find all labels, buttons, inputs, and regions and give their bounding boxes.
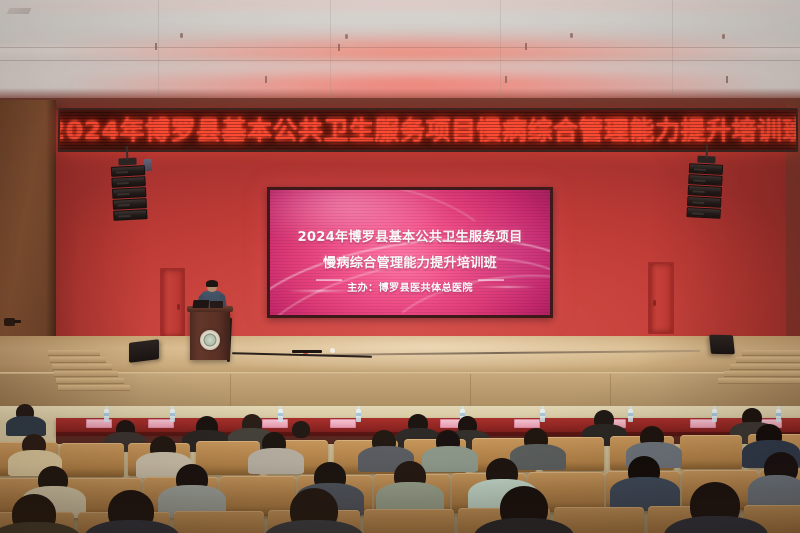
camera-icon [4,318,15,326]
speaker-module [688,174,722,186]
led-banner-text: 2024年博罗县基本公共卫生服务项目慢病综合管理能力提升培训班 [58,118,799,143]
ceiling-panel-joint [330,0,331,100]
screen-title-line-2: 慢病综合管理能力提升培训班 [323,252,497,271]
stage-door-left[interactable] [160,268,185,338]
wooden-lectern [190,310,230,360]
attendee-body [6,416,46,436]
attendee-head [292,421,310,438]
line-array-speaker-right [686,155,723,220]
institution-emblem-icon [200,330,220,350]
water-bottle [356,409,361,422]
ceiling-hook-icon [265,76,267,83]
water-bottle [170,409,175,422]
auditorium-seat[interactable] [60,443,124,477]
ceiling-hook-icon [155,43,157,50]
stage-led-screen: 2024年博罗县基本公共卫生服务项目 慢病综合管理能力提升培训班 主办：博罗县医… [267,187,553,318]
attendee-body [510,444,566,470]
screen-background: 2024年博罗县基本公共卫生服务项目 慢病综合管理能力提升培训班 主办：博罗县医… [270,190,550,315]
stage-floor-marker [330,348,335,353]
ceiling-top-highlight [0,0,800,14]
auditorium-seat[interactable] [364,509,454,533]
water-bottle [540,409,545,422]
stage-apron-seam [610,374,611,408]
conference-hall-screenshot: 2024年博罗县基本公共卫生服务项目慢病综合管理能力提升培训班 [0,0,800,533]
water-bottle [104,409,109,422]
screen-organizer-line: 主办：博罗县医共体总医院 [347,279,473,294]
auditorium-seat[interactable] [174,511,264,533]
ceiling-hook-icon [726,76,728,83]
stage-door-right[interactable] [648,262,674,334]
screen-title-block: 2024年博罗县基本公共卫生服务项目 慢病综合管理能力提升培训班 主办：博罗县医… [270,226,550,294]
ceiling-glow-band-lower [70,72,760,98]
speaker-module [111,165,145,177]
name-card [262,419,288,428]
speaker-module [687,196,721,208]
presenter-hair [206,280,218,287]
water-bottle [628,409,633,422]
speaker-module [688,185,722,197]
ceiling-hook-icon [338,44,340,51]
stage-apron-seam [470,374,471,408]
stage-cable-box [292,350,322,353]
speaker-module [689,163,723,175]
screen-dash-decor-left [316,279,342,281]
speaker-module [111,176,145,188]
line-array-speaker-left [110,157,147,222]
ceiling-hook-icon [505,76,507,83]
stage-apron-seam [230,374,231,408]
ceiling-fixture-icon [570,33,573,38]
stage-steps-left [48,336,138,396]
screen-dash-decor-right [478,279,504,281]
name-card [514,419,540,428]
overhead-led-banner: 2024年博罗县基本公共卫生服务项目慢病综合管理能力提升培训班 [58,108,799,152]
door-knob-icon [177,304,180,310]
water-bottle [278,409,283,422]
stage-steps-right [710,336,800,396]
name-card [330,419,356,428]
speaker-module [112,187,146,199]
attendee-body [422,446,478,472]
screen-title-line-1: 2024年博罗县基本公共卫生服务项目 [298,226,523,245]
microphone-icon [192,300,209,308]
ceiling-seam-line [0,60,800,61]
ceiling-panel-joint [672,0,673,100]
speaker-module [686,207,720,219]
ceiling-vent-icon [7,8,32,14]
ceiling-fixture-icon [345,34,348,39]
ceiling-glow-band-upper [60,38,760,58]
water-bottle [776,409,781,422]
auditorium-seat[interactable] [680,435,742,469]
ceiling-fixture-icon [180,33,183,38]
speaker-module [113,209,147,221]
ceiling-panel-joint [158,0,159,100]
ceiling-seam-line [0,47,800,48]
water-bottle [712,409,717,422]
ceiling-hook-icon [525,43,527,50]
laptop-icon [210,301,223,308]
speaker-module [113,198,147,210]
ceiling-panel-joint [500,0,501,100]
attendee-body [248,448,304,474]
ceiling-fixture-icon [722,34,725,39]
door-knob-icon [653,300,656,306]
ceiling [0,0,800,100]
